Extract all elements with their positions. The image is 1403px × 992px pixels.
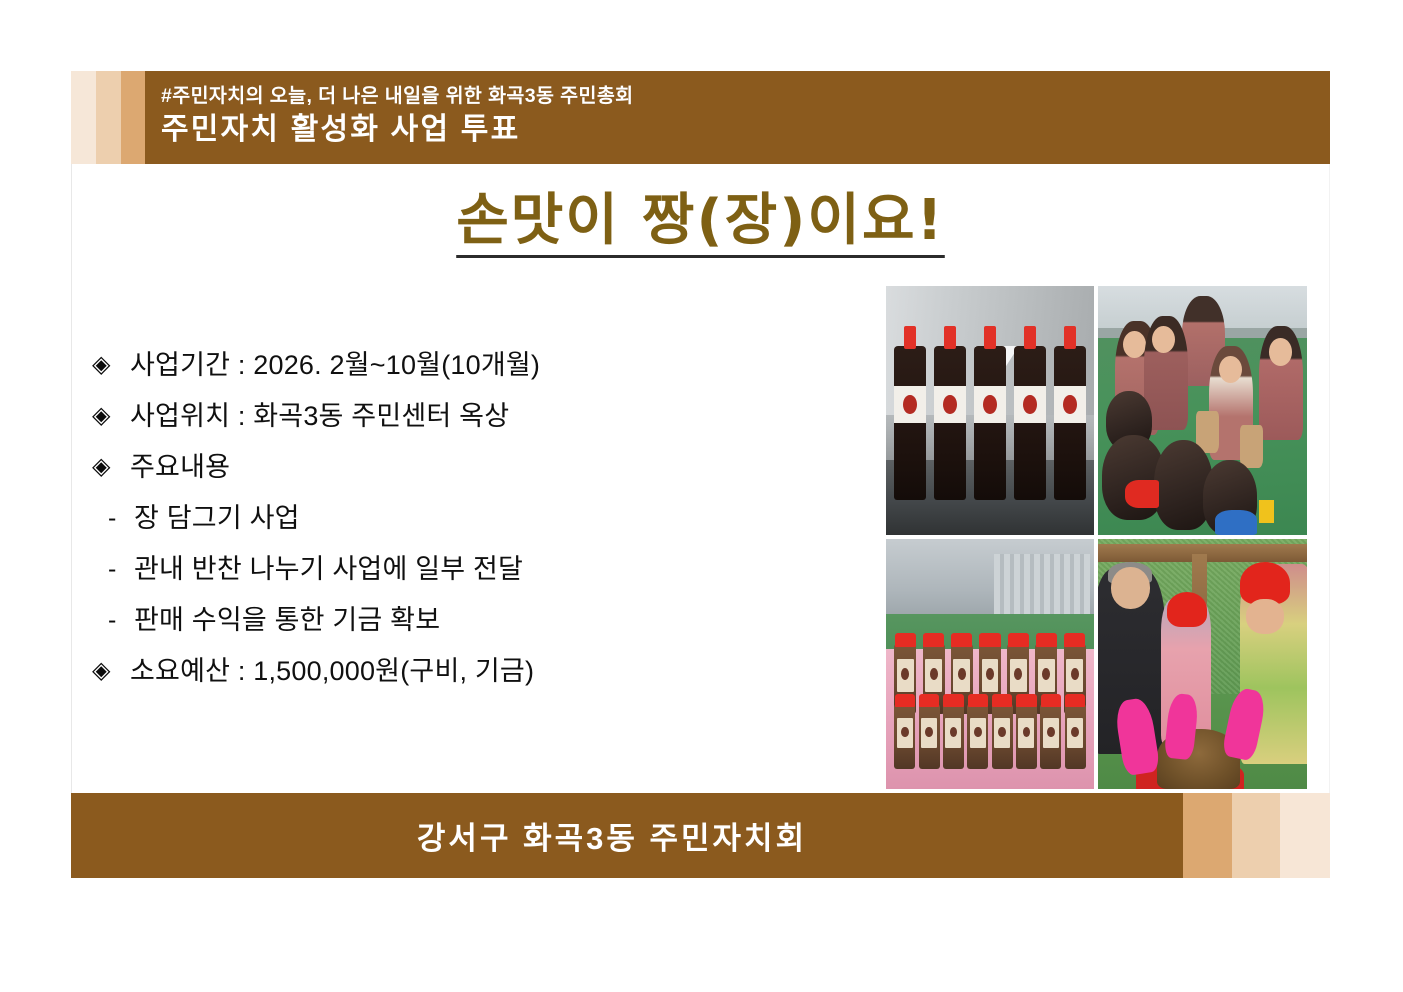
jar-label <box>1038 659 1055 691</box>
jang-jar <box>919 704 940 769</box>
list-item-label: 사업위치 : 화곡3동 주민센터 옥상 <box>130 403 852 430</box>
header-accent-bar-mid <box>96 71 121 164</box>
diamond-bullet-icon: ◈ <box>92 454 130 479</box>
header-band: #주민자치의 오늘, 더 나은 내일을 위한 화곡3동 주민총회 주민자치 활성… <box>71 71 1330 164</box>
diamond-bullet-icon: ◈ <box>92 403 130 428</box>
photo-background-buildings <box>886 539 1094 624</box>
jang-jar <box>1065 704 1086 769</box>
soy-sauce-bottle <box>1054 346 1086 500</box>
jar-row-front <box>894 704 1085 769</box>
soy-sauce-bottle <box>1014 346 1046 500</box>
header-text-block: #주민자치의 오늘, 더 나은 내일을 위한 화곡3동 주민총회 주민자치 활성… <box>145 71 1330 164</box>
bottle-label <box>1054 386 1086 423</box>
header-accent-bar-light <box>71 71 96 164</box>
red-headscarf <box>1240 562 1290 605</box>
soy-sauce-bottle <box>974 346 1006 500</box>
dash-bullet-icon: - <box>104 556 134 582</box>
jar-label <box>925 659 942 691</box>
yellow-object <box>1259 500 1274 522</box>
red-headscarf <box>1167 592 1207 627</box>
jar-label <box>982 659 999 691</box>
list-item: - 장 담그기 사업 <box>92 505 852 532</box>
footer-accent-bar-light <box>1280 793 1330 878</box>
page-title: 손맛이 짱(장)이요! <box>456 193 944 258</box>
soy-sauce-bottles-photo <box>886 286 1094 535</box>
jang-jar <box>1016 704 1037 769</box>
meju-block <box>1240 425 1263 467</box>
soy-sauce-bottle <box>894 346 926 500</box>
bottle-row <box>894 346 1085 500</box>
blue-bowl <box>1215 510 1257 535</box>
bottle-label <box>934 386 966 423</box>
jar-label <box>1018 718 1034 748</box>
list-item-label: 판매 수익을 통한 기금 확보 <box>134 607 852 634</box>
photo-grid <box>886 286 1311 789</box>
list-item: - 관내 반찬 나누기 사업에 일부 전달 <box>92 556 852 583</box>
jangdok-pots-volunteers-photo <box>1098 286 1307 535</box>
list-item-label: 장 담그기 사업 <box>134 505 852 532</box>
woman-face <box>1246 599 1284 634</box>
list-item: ◈ 사업위치 : 화곡3동 주민센터 옥상 <box>92 403 852 430</box>
jang-jar <box>894 704 915 769</box>
bottle-label <box>974 386 1006 423</box>
jar-label <box>1067 718 1083 748</box>
jang-jar <box>1040 704 1061 769</box>
slide-root: #주민자치의 오늘, 더 나은 내일을 위한 화곡3동 주민총회 주민자치 활성… <box>0 0 1403 992</box>
project-detail-list: ◈ 사업기간 : 2026. 2월~10월(10개월) ◈ 사업위치 : 화곡3… <box>92 352 852 709</box>
jar-label <box>921 718 937 748</box>
header-accent-bar-dark <box>121 71 145 164</box>
footer-band: 강서구 화곡3동 주민자치회 <box>71 793 1330 878</box>
jar-label <box>897 718 913 748</box>
dash-bullet-icon: - <box>104 607 134 633</box>
jang-jars-pink-sheet-photo <box>886 539 1094 789</box>
jar-label <box>1043 718 1059 748</box>
jar-label <box>1066 659 1083 691</box>
list-item: ◈ 사업기간 : 2026. 2월~10월(10개월) <box>92 352 852 379</box>
jar-label <box>970 718 986 748</box>
jar-label <box>1010 659 1027 691</box>
jar-label <box>897 659 914 691</box>
jang-jar <box>967 704 988 769</box>
footer-accent-bar-mid <box>1232 793 1280 878</box>
list-item: - 판매 수익을 통한 기금 확보 <box>92 607 852 634</box>
list-item-label: 관내 반찬 나누기 사업에 일부 전달 <box>134 556 852 583</box>
list-item-label: 소요예산 : 1,500,000원(구비, 기금) <box>130 658 852 685</box>
jang-jar <box>992 704 1013 769</box>
soy-sauce-bottle <box>934 346 966 500</box>
dash-bullet-icon: - <box>104 505 134 531</box>
header-title: 주민자치 활성화 사업 투표 <box>161 110 1330 149</box>
red-jug <box>1125 480 1158 507</box>
headline-wrap: 손맛이 짱(장)이요! <box>71 175 1330 275</box>
footer-title: 강서구 화곡3동 주민자치회 <box>417 813 807 858</box>
bottle-label <box>894 386 926 423</box>
list-item-label: 사업기간 : 2026. 2월~10월(10개월) <box>130 352 852 379</box>
diamond-bullet-icon: ◈ <box>92 352 130 377</box>
jang-jar <box>943 704 964 769</box>
footer-accent-bar-dark <box>1183 793 1232 878</box>
man-face <box>1111 567 1151 610</box>
list-item: ◈ 소요예산 : 1,500,000원(구비, 기금) <box>92 658 852 685</box>
header-kicker: #주민자치의 오늘, 더 나은 내일을 위한 화곡3동 주민총회 <box>161 84 1330 108</box>
volunteer-face <box>1269 338 1292 365</box>
volunteer-face <box>1123 331 1146 358</box>
meju-mixing-photo <box>1098 539 1307 789</box>
diamond-bullet-icon: ◈ <box>92 658 130 683</box>
footer-text-block: 강서구 화곡3동 주민자치회 <box>71 793 1183 878</box>
list-item: ◈ 주요내용 <box>92 454 852 481</box>
jar-label <box>953 659 970 691</box>
jar-label <box>994 718 1010 748</box>
jar-label <box>945 718 961 748</box>
list-item-label: 주요내용 <box>130 454 852 481</box>
bottle-label <box>1014 386 1046 423</box>
